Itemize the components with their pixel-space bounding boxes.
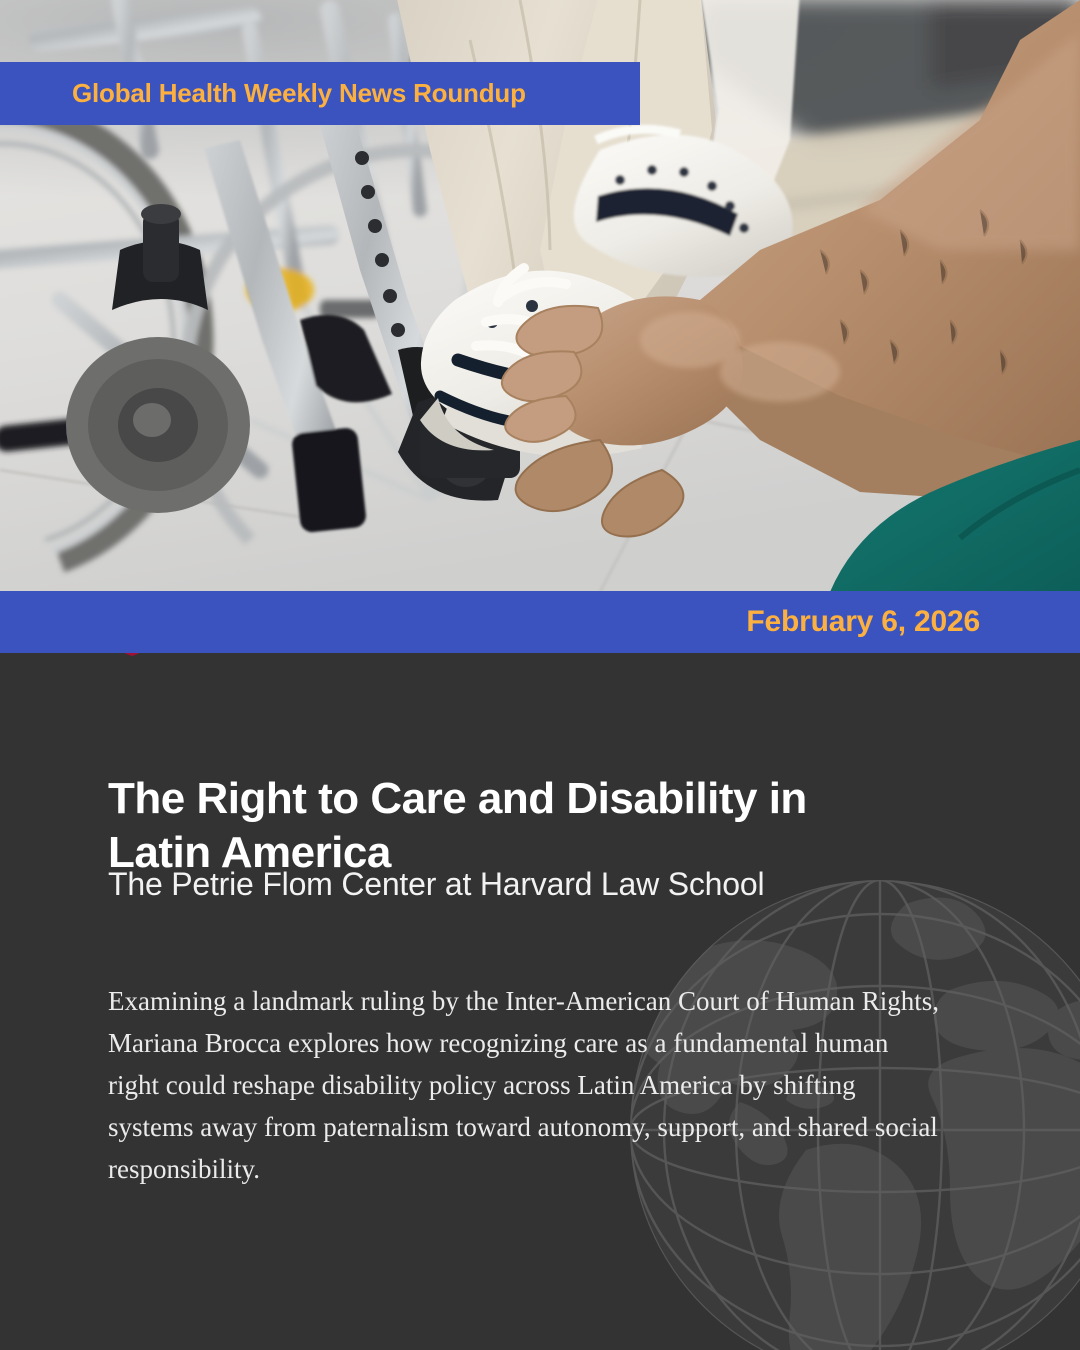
article-summary: Examining a landmark ruling by the Inter… [108, 980, 940, 1191]
series-label: Global Health Weekly News Roundup [0, 78, 526, 109]
series-banner: Global Health Weekly News Roundup [0, 62, 640, 125]
date-banner: February 6, 2026 [0, 591, 1080, 653]
article-source: The Petrie Flom Center at Harvard Law Sc… [108, 866, 988, 903]
social-card: Global Health Weekly News Roundup Februa… [0, 0, 1080, 1350]
date-label: February 6, 2026 [746, 605, 1080, 639]
page-title: The Right to Care and Disability in Lati… [108, 772, 968, 879]
article-block: The Right to Care and Disability in Lati… [0, 653, 1080, 1350]
title-line-1: The Right to Care and Disability in [108, 774, 807, 823]
